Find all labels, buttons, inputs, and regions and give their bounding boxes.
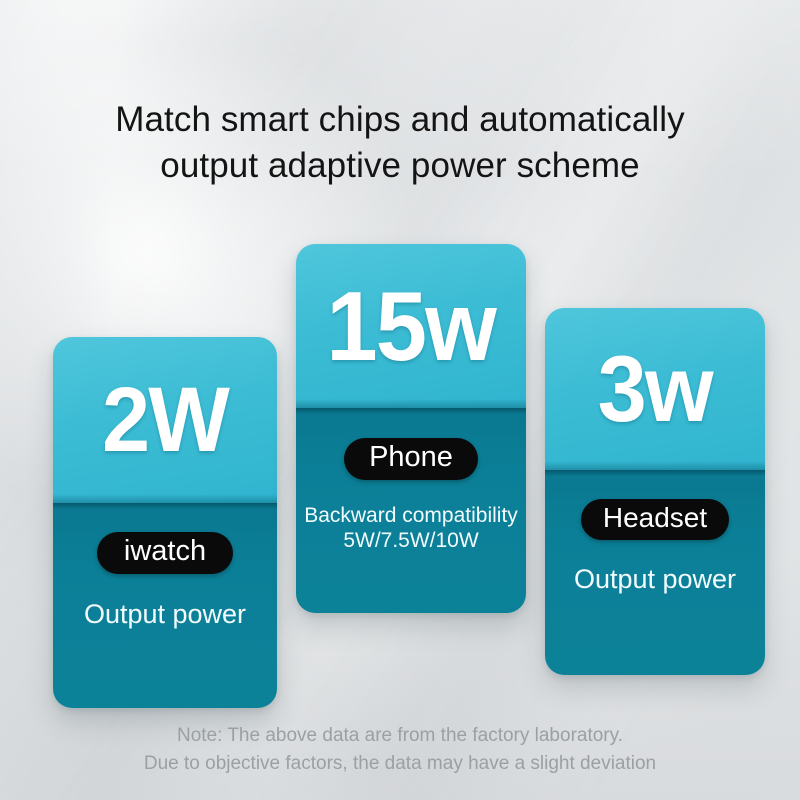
device-badge-headset: Headset [581, 499, 729, 540]
device-badge-iwatch: iwatch [97, 532, 233, 574]
power-card-phone-bottom: Phone Backward compatibility 5W/7.5W/10W [296, 408, 526, 613]
power-caption-phone: Backward compatibility 5W/7.5W/10W [304, 504, 518, 554]
power-caption-iwatch: Output power [84, 599, 246, 631]
device-badge-phone: Phone [344, 438, 478, 480]
power-value-phone: 15w [327, 277, 495, 375]
disclaimer-note: Note: The above data are from the factor… [0, 722, 800, 778]
power-card-headset-bottom: Headset Output power [545, 470, 765, 675]
power-card-headset-top: 3w [545, 308, 765, 470]
power-value-headset: 3w [598, 342, 712, 436]
poster-canvas: Match smart chips and automatically outp… [0, 0, 800, 800]
power-card-phone: 15w Phone Backward compatibility 5W/7.5W… [296, 244, 526, 613]
power-card-headset: 3w Headset Output power [545, 308, 765, 675]
power-card-iwatch-top: 2W [53, 337, 277, 503]
power-card-iwatch-bottom: iwatch Output power [53, 503, 277, 708]
power-card-iwatch: 2W iwatch Output power [53, 337, 277, 708]
power-card-phone-top: 15w [296, 244, 526, 408]
power-caption-headset: Output power [574, 564, 736, 596]
page-title: Match smart chips and automatically outp… [0, 97, 800, 189]
power-value-iwatch: 2W [102, 374, 228, 466]
